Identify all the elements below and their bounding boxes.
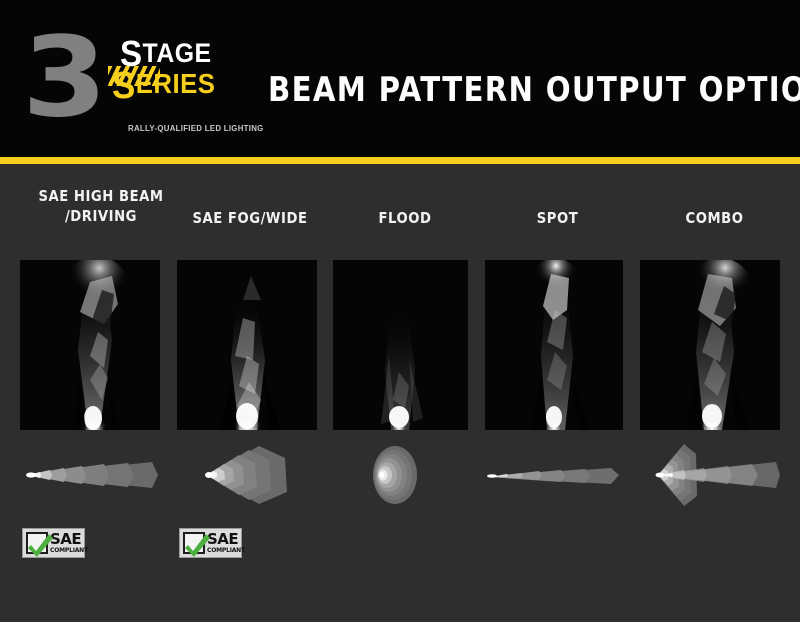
sae-compliant-badge-high-beam: SAE COMPLIANT [22,528,85,558]
beam-photo-spot [485,260,623,430]
beam-shape [20,444,160,506]
beam-shape [177,444,317,506]
header-bar: 3 STAGE SERIES RALLY-QUALIFIED LED LIGHT… [0,0,800,157]
column-label-row: SAE HIGH BEAM /DRIVING SAE FOG/WIDE FLOO… [0,186,800,246]
beam-photo-scene [640,260,780,430]
beam-diagram-sae-fog-wide [177,444,317,506]
column-label-line1: SAE HIGH BEAM [38,187,163,205]
logo-word-series-rest: ERIES [136,68,216,99]
logo-word-stage: STAGE [120,40,212,67]
beam-diagram-spot [485,444,623,506]
beam-diagram-flood [333,444,468,506]
logo-numeral-3: 3 [22,22,103,132]
badge-title: SAE [50,532,88,547]
beam-photo-combo [640,260,780,430]
accent-divider [0,157,800,164]
beam-diagram-combo [640,444,780,506]
stage-series-logo: 3 STAGE SERIES RALLY-QUALIFIED LED LIGHT… [22,22,247,134]
logo-word-series-cap: S [112,65,136,107]
badge-subtitle: COMPLIANT [207,547,245,554]
column-label-line1: COMBO [686,209,744,227]
column-label-line2: /DRIVING [65,207,137,225]
beam-diagram-sae-high-beam-driving [20,444,160,506]
logo-word-series: SERIES [112,70,215,100]
beam-shape [640,444,780,506]
beam-photo-sae-high-beam-driving [20,260,160,430]
checkbox-frame [183,532,205,554]
beam-shape [333,444,468,506]
beam-photo-scene [177,260,317,430]
beam-photo-scene [485,260,623,430]
page-title: BEAM PATTERN OUTPUT OPTIONS [268,72,800,108]
logo-wordmark: STAGE SERIES RALLY-QUALIFIED LED LIGHTIN… [108,40,250,122]
column-label-line1: FLOOD [378,209,431,227]
check-icon [25,529,55,559]
beam-shape [485,444,623,506]
sae-compliant-badge-fog-wide: SAE COMPLIANT [179,528,242,558]
badge-subtitle: COMPLIANT [50,547,88,554]
beam-photo-sae-fog-wide [177,260,317,430]
badge-text: SAE COMPLIANT [207,532,245,554]
beam-pattern-chart: 3 STAGE SERIES RALLY-QUALIFIED LED LIGHT… [0,0,800,622]
beam-photo-flood [333,260,468,430]
column-label-line1: SPOT [537,209,579,227]
beam-photo-scene [333,260,468,430]
logo-tagline: RALLY-QUALIFIED LED LIGHTING [128,124,264,133]
column-label-flood: FLOOD [330,208,480,228]
column-label-spot: SPOT [485,208,630,228]
badge-title: SAE [207,532,245,547]
checkbox-frame [26,532,48,554]
check-icon [182,529,212,559]
beam-photo-scene [20,260,160,430]
logo-word-stage-rest: TAGE [143,38,212,68]
column-label-line1: SAE FOG/WIDE [192,209,307,227]
column-label-sae-fog-wide: SAE FOG/WIDE [171,208,329,228]
column-label-sae-high-beam-driving: SAE HIGH BEAM /DRIVING [17,186,184,226]
column-label-combo: COMBO [642,208,787,228]
badge-text: SAE COMPLIANT [50,532,88,554]
